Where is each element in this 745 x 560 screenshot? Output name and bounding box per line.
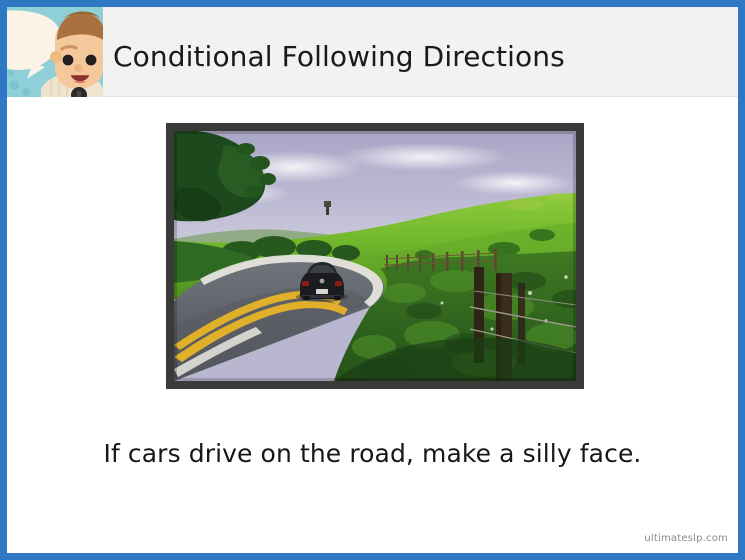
rural-road-photo: [174, 131, 576, 381]
page-title: Conditional Following Directions: [113, 40, 565, 73]
slide-header: Conditional Following Directions: [7, 7, 738, 97]
slide-container: Conditional Following Directions: [0, 0, 745, 560]
rural-road-photo-icon: [174, 131, 576, 381]
image-frame: [166, 123, 584, 389]
slide-canvas: Conditional Following Directions: [7, 7, 738, 553]
avatar: [7, 7, 103, 97]
speech-therapy-boy-avatar-icon: [7, 7, 103, 97]
caption-text: If cars drive on the road, make a silly …: [7, 439, 738, 468]
watermark: ultimateslp.com: [644, 533, 728, 544]
